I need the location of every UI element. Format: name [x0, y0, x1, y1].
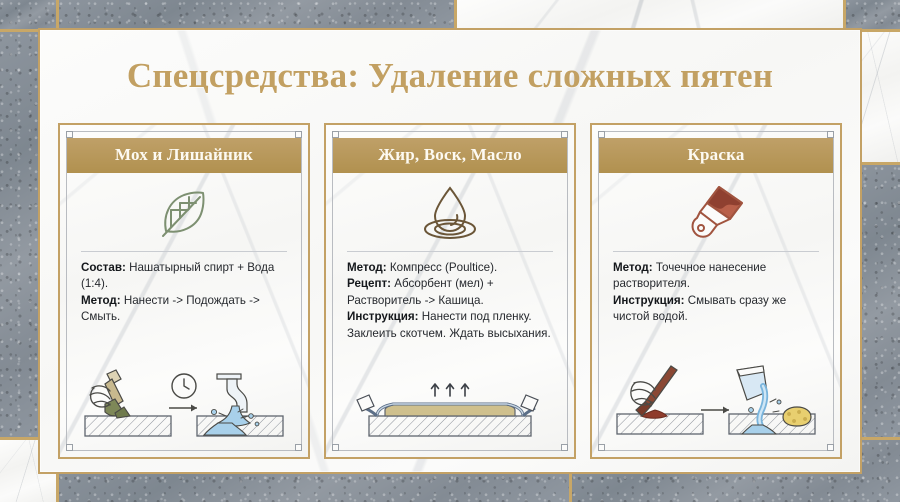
brush-apply-wait-rinse-diagram: [81, 364, 287, 440]
card-paint[interactable]: Краска Метод:: [590, 123, 842, 459]
cards-row: Мох и Лишайник: [40, 123, 860, 459]
card-moss-lichen[interactable]: Мох и Лишайник: [58, 123, 310, 459]
text-line: Метод: Нанести -> Подождать -> Смыть.: [81, 293, 287, 326]
card-inner-frame: Мох и Лишайник: [66, 131, 302, 451]
paintbrush-icon: [686, 183, 746, 243]
card-body-text: Состав: Нашатырный спирт + Вода (1:4). М…: [67, 260, 301, 326]
text-label: Состав:: [81, 261, 126, 274]
card-header-title: Жир, Воск, Масло: [333, 138, 567, 173]
corner-ornament-bottom-left: [66, 444, 73, 451]
corner-ornament-top-left: [598, 131, 605, 138]
text-line: Инструкция: Нанести под пленку. Заклеить…: [347, 309, 553, 342]
card-divider: [81, 251, 287, 252]
card-figure: [67, 364, 301, 450]
bg-tile-granite-top-left: [0, 0, 56, 29]
corner-ornament-bottom-left: [332, 444, 339, 451]
card-header-title: Мох и Лишайник: [67, 138, 301, 173]
card-body-text: Метод: Точечное нанесение растворителя. …: [599, 260, 833, 326]
text-value: Компресс (Poultice).: [387, 261, 498, 274]
card-figure: [333, 378, 567, 450]
bg-tile-marble-top-right: [457, 0, 843, 29]
text-line: Метод: Компресс (Poultice).: [347, 260, 553, 276]
page-title: Спецсредства: Удаление сложных пятен: [40, 56, 860, 96]
card-header-title: Краска: [599, 138, 833, 173]
card-icon-area: [333, 175, 567, 251]
card-divider: [613, 251, 819, 252]
corner-ornament-bottom-right: [827, 444, 834, 451]
card-icon-area: [599, 175, 833, 251]
text-label: Инструкция:: [347, 310, 419, 323]
corner-ornament-top-left: [332, 131, 339, 138]
card-icon-area: [67, 175, 301, 251]
corner-ornament-bottom-right: [561, 444, 568, 451]
text-label: Рецепт:: [347, 277, 391, 290]
bg-tile-granite-top-far: [846, 0, 900, 29]
corner-ornament-top-right: [561, 131, 568, 138]
card-divider: [347, 251, 553, 252]
corner-ornament-top-left: [66, 131, 73, 138]
main-panel: Спецсредства: Удаление сложных пятен Мох…: [38, 28, 862, 474]
text-line: Рецепт: Абсорбент (мел) + Растворитель -…: [347, 276, 553, 309]
card-inner-frame: Краска Метод:: [598, 131, 834, 451]
corner-ornament-bottom-left: [598, 444, 605, 451]
leaf-icon: [155, 184, 213, 242]
text-line: Инструкция: Смывать сразу же чистой водо…: [613, 293, 819, 326]
card-figure: [599, 362, 833, 450]
corner-ornament-bottom-right: [295, 444, 302, 451]
bg-tile-granite-top-mid: [59, 0, 454, 29]
droplet-icon: [419, 183, 481, 243]
text-label: Метод:: [81, 294, 121, 307]
text-label: Метод:: [613, 261, 653, 274]
text-line: Метод: Точечное нанесение растворителя.: [613, 260, 819, 293]
poultice-under-film-diagram: [347, 378, 553, 440]
text-line: Состав: Нашатырный спирт + Вода (1:4).: [81, 260, 287, 293]
corner-ornament-top-right: [295, 131, 302, 138]
card-grease-wax-oil[interactable]: Жир, Воск, Масло Метод: Компресс (Poulti…: [324, 123, 576, 459]
text-label: Метод:: [347, 261, 387, 274]
text-label: Инструкция:: [613, 294, 685, 307]
spot-apply-and-rinse-diagram: [613, 362, 819, 440]
corner-ornament-top-right: [827, 131, 834, 138]
card-body-text: Метод: Компресс (Poultice). Рецепт: Абсо…: [333, 260, 567, 342]
card-inner-frame: Жир, Воск, Масло Метод: Компресс (Poulti…: [332, 131, 568, 451]
